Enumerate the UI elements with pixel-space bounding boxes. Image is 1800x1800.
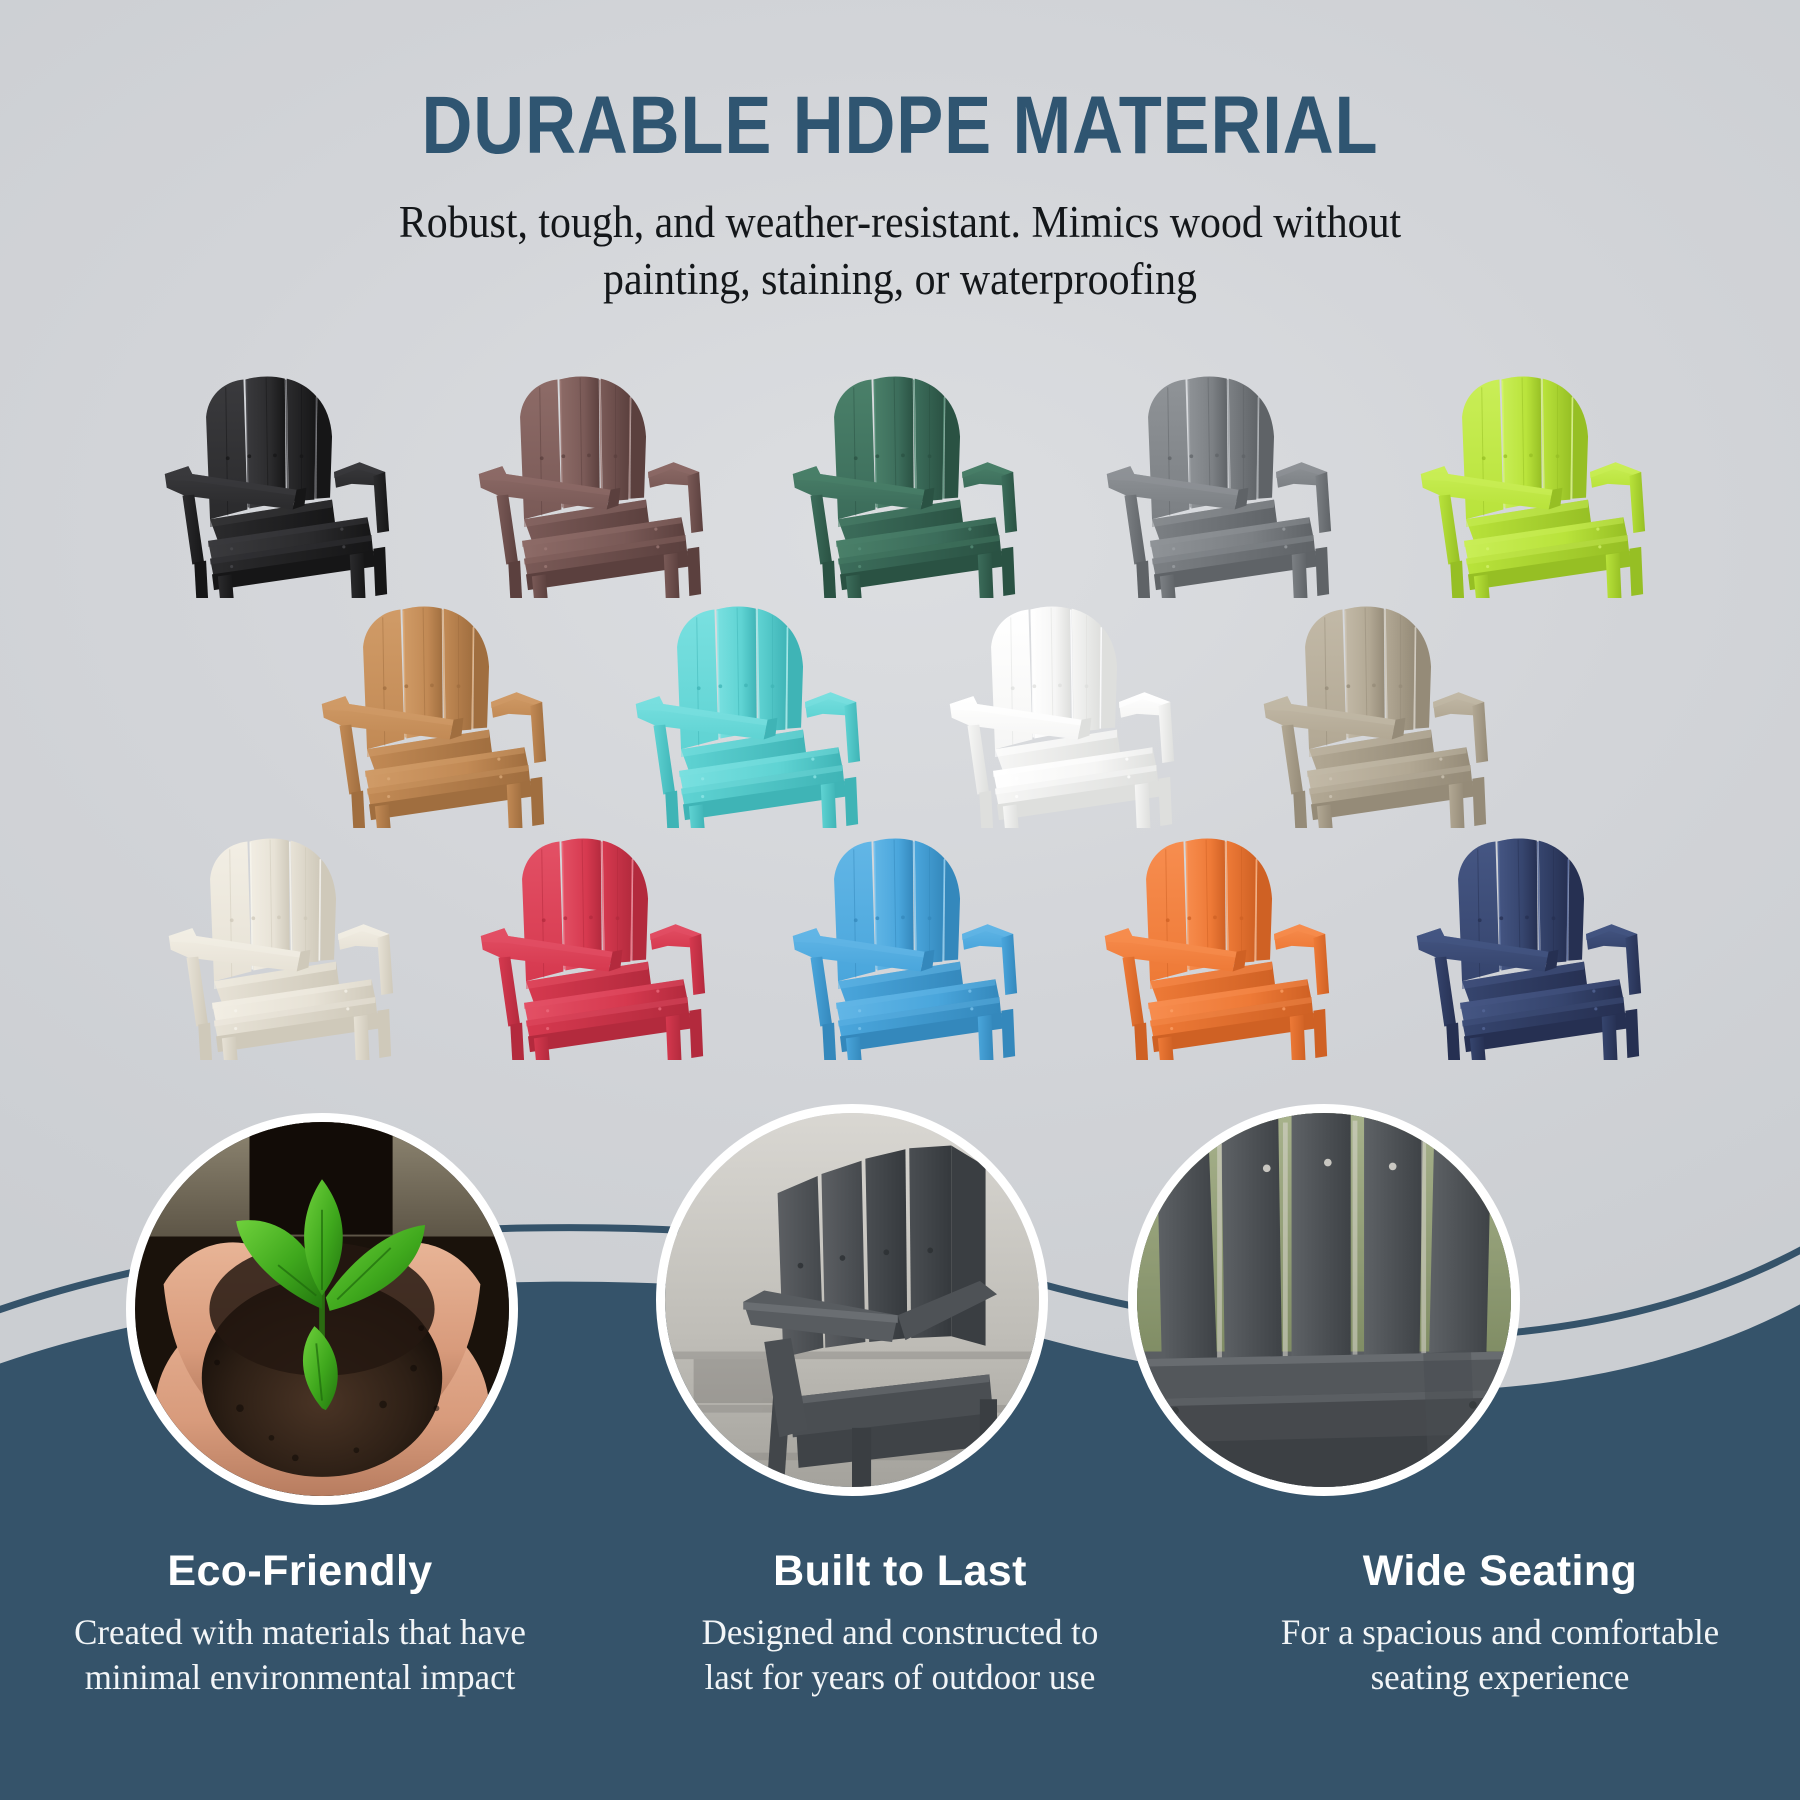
medallion-eco-friendly[interactable] [126, 1113, 518, 1505]
chair-swatch-sky-blue[interactable] [775, 814, 1025, 1060]
chair-swatch-gray[interactable] [1089, 352, 1339, 598]
infographic-canvas: DURABLE HDPE MATERIAL Robust, tough, and… [0, 0, 1800, 1800]
feature-description: Created with materials that have minimal… [34, 1610, 566, 1701]
feature-description: For a spacious and comfortable seating e… [1234, 1610, 1766, 1701]
chair-row-2 [0, 582, 1800, 828]
chair-swatch-navy[interactable] [1399, 814, 1649, 1060]
feature-title: Built to Last [626, 1547, 1174, 1596]
feature-desc-line-2: seating experience [1371, 1657, 1630, 1697]
feature-item-built-to-last: Built to Last Designed and constructed t… [600, 1547, 1200, 1701]
feature-list: Eco-Friendly Created with materials that… [0, 1547, 1800, 1701]
feature-item-eco-friendly: Eco-Friendly Created with materials that… [0, 1547, 600, 1701]
feature-desc-line-1: For a spacious and comfortable [1281, 1612, 1719, 1652]
page-subtitle: Robust, tough, and weather-resistant. Mi… [314, 194, 1486, 309]
feature-title: Eco-Friendly [26, 1547, 574, 1596]
medallion-wide-seating[interactable] [1128, 1104, 1520, 1496]
feature-description: Designed and constructed to last for yea… [634, 1610, 1166, 1701]
chair-swatch-black[interactable] [147, 352, 397, 598]
chair-swatch-lime-green[interactable] [1403, 352, 1653, 598]
feature-desc-line-1: Created with materials that have [74, 1612, 526, 1652]
header: DURABLE HDPE MATERIAL Robust, tough, and… [0, 84, 1800, 309]
feature-title: Wide Seating [1226, 1547, 1774, 1596]
subtitle-line-1: Robust, tough, and weather-resistant. Mi… [314, 194, 1486, 252]
medallion-built-to-last[interactable] [656, 1104, 1048, 1496]
chair-color-grid [0, 352, 1800, 1060]
wide-chair-seat-closeup-photo [1137, 1113, 1511, 1487]
chair-swatch-dark-green[interactable] [775, 352, 1025, 598]
page-title: DURABLE HDPE MATERIAL [126, 84, 1674, 168]
feature-desc-line-1: Designed and constructed to [702, 1612, 1099, 1652]
chair-swatch-red[interactable] [463, 814, 713, 1060]
chair-swatch-khaki[interactable] [1246, 582, 1496, 828]
chair-swatch-brown[interactable] [461, 352, 711, 598]
chair-row-3 [0, 814, 1800, 1060]
chair-row-1 [0, 352, 1800, 598]
subtitle-line-2: painting, staining, or waterproofing [314, 251, 1486, 309]
chair-swatch-ivory[interactable] [151, 814, 401, 1060]
chair-swatch-turquoise[interactable] [618, 582, 868, 828]
chair-swatch-teak[interactable] [304, 582, 554, 828]
gray-adirondack-chair-on-patio-photo [665, 1113, 1039, 1487]
feature-desc-line-2: minimal environmental impact [85, 1657, 516, 1697]
chair-swatch-orange[interactable] [1087, 814, 1337, 1060]
hands-holding-seedling-photo [135, 1122, 509, 1496]
chair-swatch-white[interactable] [932, 582, 1182, 828]
feature-item-wide-seating: Wide Seating For a spacious and comforta… [1200, 1547, 1800, 1701]
feature-desc-line-2: last for years of outdoor use [705, 1657, 1096, 1697]
